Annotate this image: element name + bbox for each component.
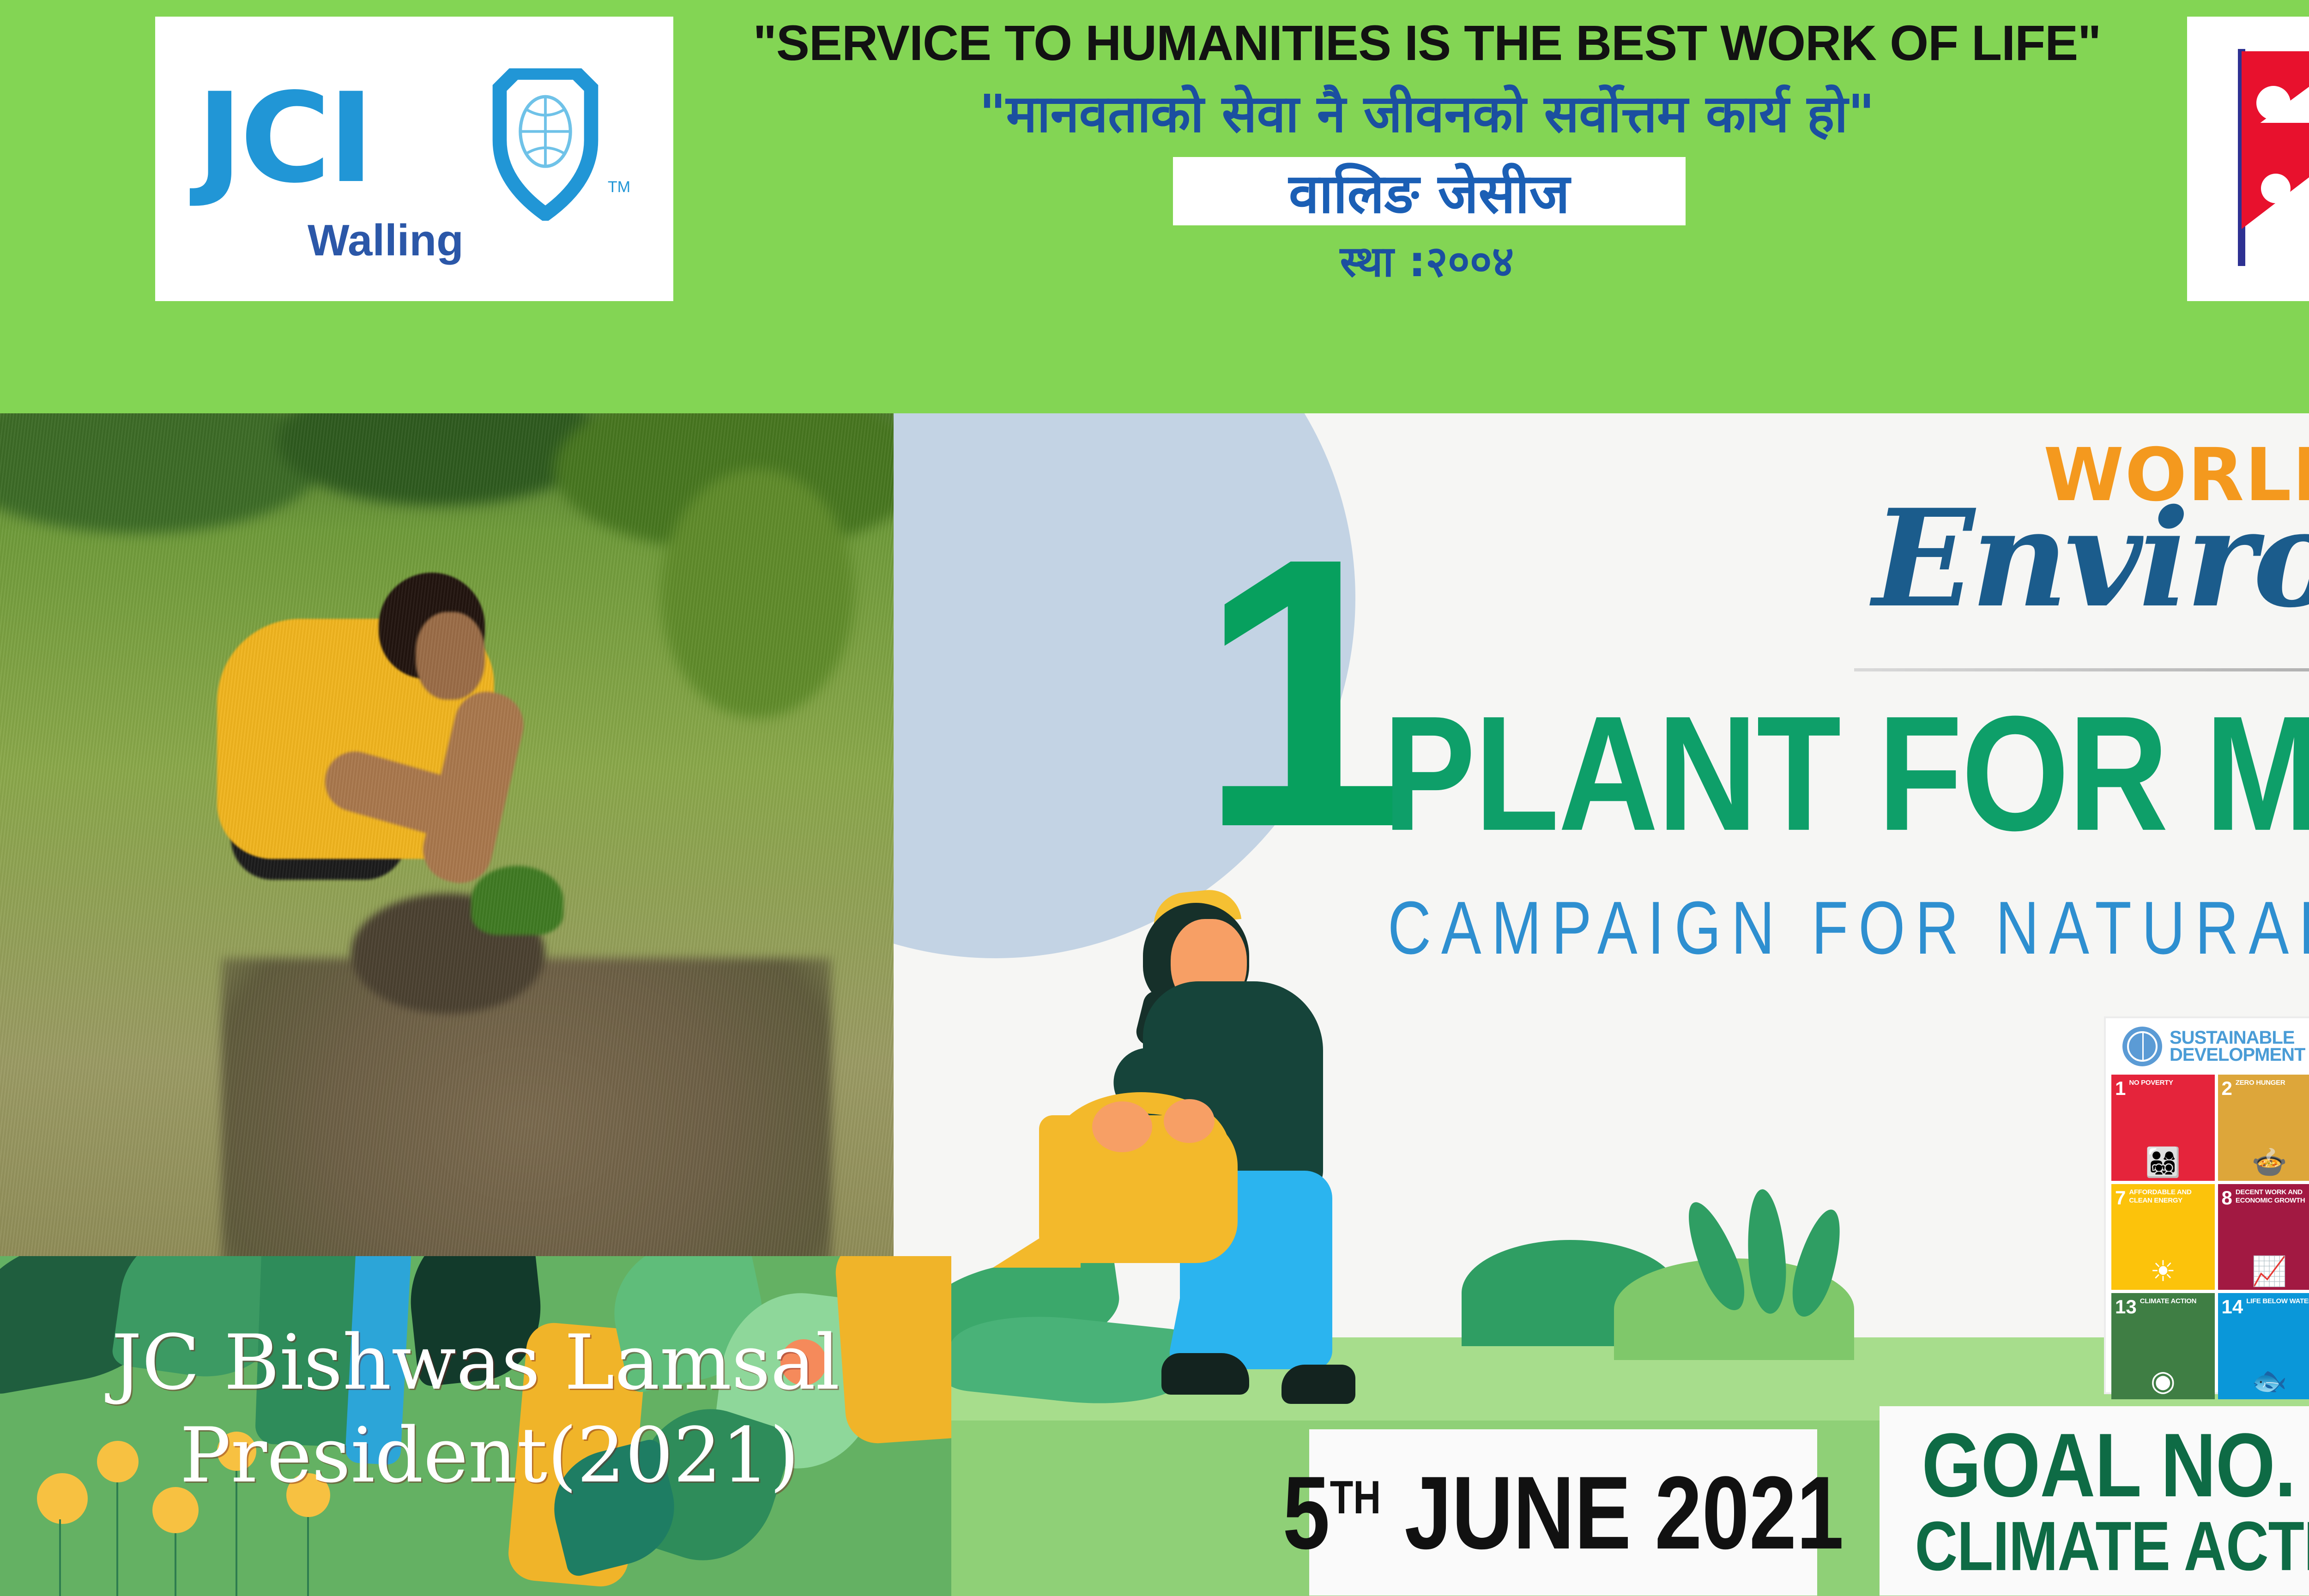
sdg-title-line1: SUSTAINABLE [2170,1029,2305,1046]
sdg-goal-label: CLIMATE ACTION [2140,1297,2196,1305]
sdg-goal-number: 7 [2115,1188,2126,1208]
sdg-goal-label: NO POVERTY [2129,1079,2173,1087]
jci-logo-text: JCI [197,77,371,200]
event-date: 5TH JUNE 2021 [1282,1453,1844,1572]
campaign-subhead: CAMPAIGN FOR NATURAL OXYGEN [1388,884,2309,971]
big-number-one: 1 [1198,501,1393,884]
sdg-goal-tile: 13CLIMATE ACTION◉ [2111,1293,2215,1399]
sdg-goal-number: 1 [2115,1079,2126,1098]
campaign-poster-art: WORLD Environment Day 1 PLANT FOR MY LIF… [894,413,2309,1596]
sdg-goal-label: ZERO HUNGER [2236,1079,2285,1087]
sdg-goal-number: 8 [2222,1188,2232,1208]
sdg-goal-icon: ◉ [2111,1367,2215,1396]
organization-established: स्था :२००४ [693,231,2161,289]
sdg-goal-label: DECENT WORK AND ECONOMIC GROWTH [2236,1188,2305,1204]
sdg-goal-tile: 2ZERO HUNGER🍲 [2218,1075,2309,1181]
jci-shield-icon [488,68,603,221]
shoe-shape [1161,1353,1249,1395]
sdg-header: SUSTAINABLE DEVELOPMENT GOALS [2106,1018,2309,1075]
organization-name-box: वालिङ जेसीज [1173,157,1686,225]
slogan-nepali: "मानवताको सेवा नै जीवनको सर्वोत्तम कार्य… [693,76,2161,147]
sdg-title-line2: DEVELOPMENT [2170,1046,2305,1064]
jci-trademark-text: TM [608,178,630,196]
hand-shape [1092,1101,1152,1152]
sdg-goal-icon: 👨‍👩‍👧‍👦 [2111,1149,2215,1177]
nepal-flag-logo [2187,17,2309,301]
organization-name: वालिङ जेसीज [1289,154,1570,229]
flag-sun-icon [2261,174,2291,203]
watering-can-spout-icon [993,1212,1081,1268]
sdg-goal-label: LIFE BELOW WATER [2246,1297,2309,1305]
sdg-panel: SUSTAINABLE DEVELOPMENT GOALS 1NO POVERT… [2106,1018,2309,1392]
sdg-goal-grid: 1NO POVERTY👨‍👩‍👧‍👦2ZERO HUNGER🍲3GOOD HEA… [2106,1075,2309,1405]
goal-name-line: CLIMATE ACTION [1915,1506,2309,1586]
sdg-goal-icon: 🍲 [2218,1149,2309,1177]
sdg-goal-number: 2 [2222,1079,2232,1098]
sdg-goal-icon: 📈 [2218,1257,2309,1286]
sdg-goal-label: AFFORDABLE AND CLEAN ENERGY [2129,1188,2191,1204]
campaign-headline: PLANT FOR MY LIFE [1383,679,2309,867]
foliage-background [0,1256,951,1596]
header-banner: JCI TM Walling "SERVICE TO HUMANITIES IS… [0,0,2309,413]
sdg-goal-icon: ☀ [2111,1257,2215,1286]
slogan-english: "SERVICE TO HUMANITIES IS THE BEST WORK … [693,14,2161,72]
environment-script-word: Environment [1873,480,2309,637]
sdg-goal-tile: 14LIFE BELOW WATER🐟 [2218,1293,2309,1399]
jci-walling-logo: JCI TM Walling [155,17,673,301]
un-emblem-icon [2122,1027,2162,1066]
sdg-goal-number: 13 [2115,1297,2137,1317]
sdg-goal-callout-box: GOAL NO. 13 CLIMATE ACTION [1880,1406,2309,1596]
sdg-goal-tile: 8DECENT WORK AND ECONOMIC GROWTH📈 [2218,1184,2309,1290]
jci-chapter-name: Walling [308,215,464,266]
hand-shape [1164,1099,1215,1143]
goal-number-line: GOAL NO. 13 [1922,1414,2309,1517]
sdg-goal-number: 14 [2222,1297,2243,1317]
sdg-goal-icon: 🐟 [2218,1367,2309,1396]
sdg-goal-tile: 1NO POVERTY👨‍👩‍👧‍👦 [2111,1075,2215,1181]
title-divider [1854,668,2309,671]
shoe-shape [1281,1365,1355,1404]
flag-moon-icon [2256,86,2291,120]
sdg-goal-tile: 7AFFORDABLE AND CLEAN ENERGY☀ [2111,1184,2215,1290]
event-date-box: 5TH JUNE 2021 [1309,1429,1817,1596]
poster-root: JCI TM Walling "SERVICE TO HUMANITIES IS… [0,0,2309,1596]
